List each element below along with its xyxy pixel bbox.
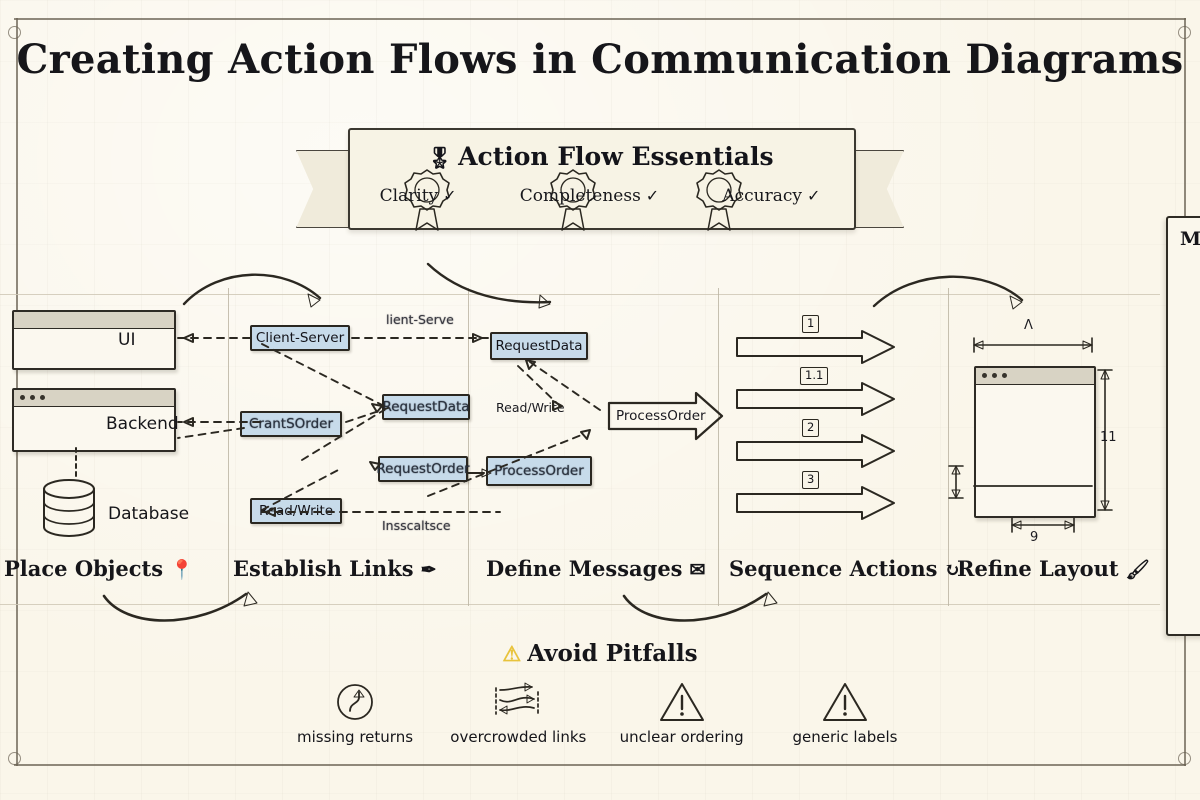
pitfalls-title-text: Avoid Pitfalls: [527, 640, 697, 667]
transition-arrow-1-2: [180, 264, 340, 310]
stage-text-define-messages: Define Messages: [486, 556, 683, 581]
pen-icon: ✒: [421, 559, 437, 581]
return-loop-icon: [280, 678, 430, 726]
corner-curl-bottom-left: [8, 752, 21, 765]
object-label-ui: UI: [118, 330, 135, 350]
stage-label-sequence-actions: Sequence Actions↻: [729, 556, 960, 581]
stage-text-establish-links: Establish Links: [233, 556, 414, 581]
link-backend-database: [74, 448, 78, 480]
badge-accuracy-label: Accuracy: [722, 186, 802, 206]
database-cylinder-icon[interactable]: [38, 478, 100, 540]
legend-subtitle: T: [1180, 250, 1200, 269]
pitfall-label-3: generic labels: [770, 728, 920, 746]
badge-clarity: Clarity✓: [380, 186, 457, 206]
legend-panel: M T S (se (oper P (da R (loo: [1166, 216, 1200, 636]
sequence-number-1-1: 1.1: [800, 367, 828, 385]
sequence-arrow-3[interactable]: [736, 486, 896, 520]
warning-icon: ⚠: [502, 641, 521, 666]
check-icon: ✓: [646, 186, 659, 205]
pitfall-label-0: missing returns: [280, 728, 430, 746]
stage-text-sequence-actions: Sequence Actions: [729, 556, 937, 581]
frame-top-border: [14, 18, 1186, 20]
pitfall-missing-returns: missing returns: [280, 678, 430, 746]
message-connector-layer: [170, 300, 730, 540]
dimension-label-right: 11: [1100, 430, 1117, 445]
legend-entry-0: S (se: [1180, 283, 1200, 319]
legend-entry-3-note: (loo: [1180, 440, 1200, 454]
dimension-bottom: [1006, 516, 1082, 534]
dimension-left-small: [948, 460, 964, 504]
legend-entry-1: (oper: [1180, 333, 1200, 354]
legend-entry-2: P (da: [1180, 368, 1200, 404]
stage-text-place-objects: Place Objects: [4, 556, 163, 581]
refine-layout-window[interactable]: [974, 366, 1096, 518]
legend-entry-0-note: (se: [1180, 305, 1200, 319]
dimension-label-top: Λ: [1024, 318, 1033, 333]
stage-text-refine-layout: Refine Layout: [957, 556, 1119, 581]
window-dots-icon: [982, 373, 1007, 378]
object-window-ui[interactable]: [12, 310, 176, 370]
stage-label-refine-layout: Refine Layout🖌: [957, 556, 1150, 581]
stage-label-place-objects: Place Objects📍: [4, 556, 194, 581]
check-icon: ✓: [807, 186, 820, 205]
warning-triangle-icon: [770, 678, 920, 726]
legend-entry-2-note: (da: [1180, 390, 1200, 404]
badge-clarity-label: Clarity: [380, 186, 439, 206]
badge-completeness: Completeness✓: [520, 186, 660, 206]
corner-curl-bottom-right: [1178, 752, 1191, 765]
legend-entry-0-name: S: [1180, 287, 1200, 305]
badge-completeness-label: Completeness: [520, 186, 641, 206]
window-titlebar: [976, 368, 1094, 385]
pitfall-unclear-ordering: unclear ordering: [607, 678, 757, 746]
ribbon-badge-list: Clarity✓ Completeness✓ Accuracy✓: [348, 186, 852, 206]
legend-entry-3-name: R: [1180, 422, 1200, 440]
legend-entry-2-name: P: [1180, 372, 1200, 390]
badge-accuracy: Accuracy✓: [722, 186, 820, 206]
sequence-arrow-2[interactable]: [736, 434, 896, 468]
transition-arrow-bottom-1: [100, 586, 268, 632]
dimension-label-bottom: 9: [1030, 530, 1038, 545]
window-titlebar: [14, 312, 174, 329]
legend-entry-3: R (loo: [1180, 418, 1200, 454]
legend-entry-1-note: (oper: [1180, 340, 1200, 354]
warning-triangle-icon: [607, 678, 757, 726]
page-title: Creating Action Flows in Communication D…: [0, 36, 1200, 83]
envelope-icon: ✉: [690, 559, 706, 581]
object-label-backend: Backend: [106, 414, 179, 434]
ribbon-banner: 🎖Action Flow Essentials Clarity✓ Complet…: [296, 112, 904, 242]
brush-icon: 🖌: [1126, 559, 1150, 581]
pitfalls-list: missing returns: [280, 678, 920, 746]
pin-icon: 📍: [170, 559, 194, 581]
pitfalls-title: ⚠Avoid Pitfalls: [0, 640, 1200, 667]
sequence-arrow-1-1[interactable]: [736, 382, 896, 416]
transition-arrow-bottom-2: [620, 586, 788, 632]
poster-canvas: Creating Action Flows in Communication D…: [0, 0, 1200, 800]
sequence-number-1: 1: [802, 315, 819, 333]
stage-label-define-messages: Define Messages✉: [486, 556, 705, 581]
window-footer-rule: [974, 484, 1092, 488]
pitfall-generic-labels: generic labels: [770, 678, 920, 746]
sequence-number-3: 3: [802, 471, 819, 489]
pitfall-label-1: overcrowded links: [443, 728, 593, 746]
window-dots-icon: [20, 395, 45, 400]
transition-arrow-2-3: [426, 262, 586, 310]
sequence-arrow-1[interactable]: [736, 330, 896, 364]
sequence-number-2: 2: [802, 419, 819, 437]
pitfall-label-2: unclear ordering: [607, 728, 757, 746]
tangled-arrows-icon: [443, 678, 593, 726]
window-titlebar: [14, 390, 174, 407]
pitfall-overcrowded-links: overcrowded links: [443, 678, 593, 746]
frame-bottom-border: [14, 764, 1186, 766]
check-icon: ✓: [443, 186, 456, 205]
transition-arrow-4-5: [870, 264, 1040, 310]
dimension-top: [966, 336, 1100, 354]
stage-label-establish-links: Establish Links✒: [233, 556, 436, 581]
arrow-request-to-process: [468, 466, 494, 480]
legend-title: M: [1180, 228, 1200, 250]
